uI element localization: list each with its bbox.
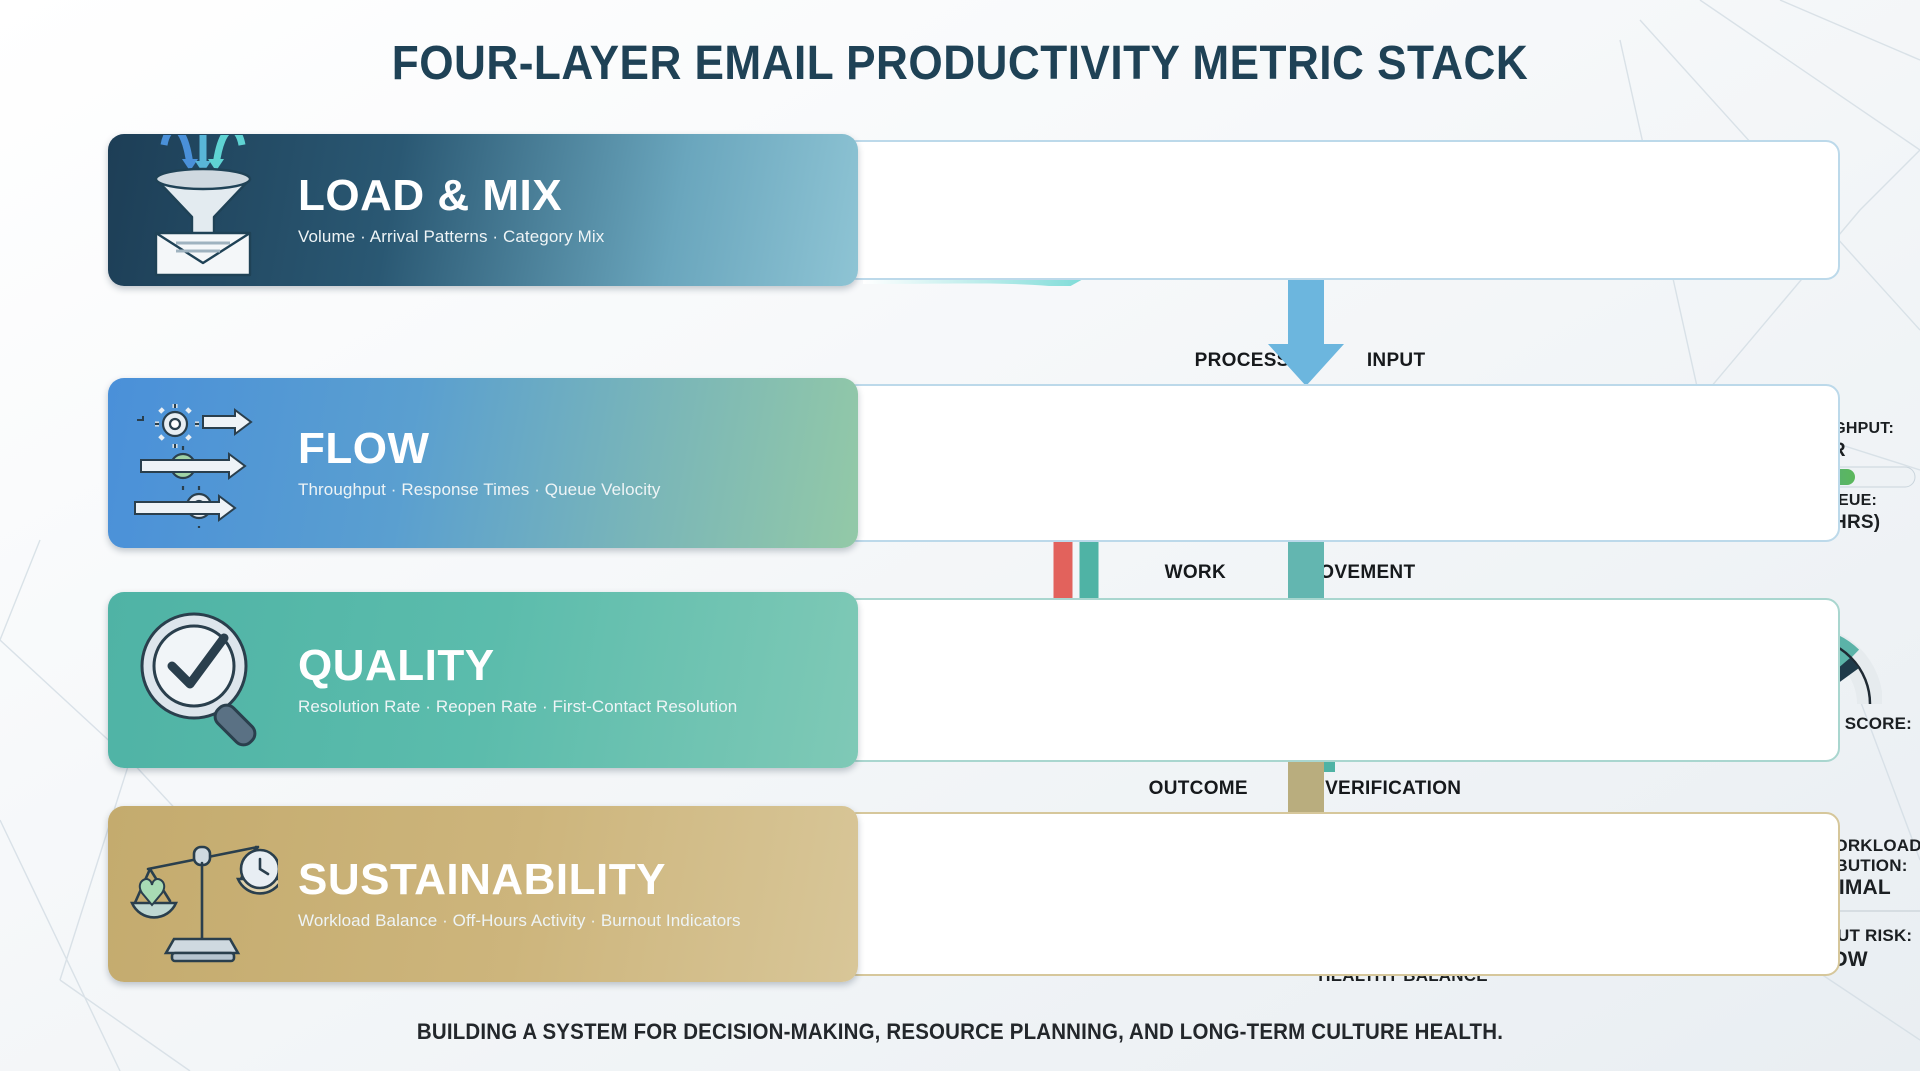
gears-arrows-icon — [108, 398, 298, 528]
page-footer: BUILDING A SYSTEM FOR DECISION-MAKING, R… — [67, 1019, 1853, 1045]
banner-load-mix[interactable]: LOAD & MIX Volume · Arrival Patterns · C… — [108, 134, 858, 286]
banner-quality[interactable]: QUALITY Resolution Rate · Reopen Rate · … — [108, 592, 858, 768]
layer-row-quality: QUALITY CHECK RESOLVED: 95% REOPEN: 5% F… — [108, 592, 1840, 768]
layer-subtitle-load-mix: Volume · Arrival Patterns · Category Mix — [298, 227, 846, 247]
connector-arrow-process-input — [1264, 280, 1348, 390]
banner-flow[interactable]: FLOW Throughput · Response Times · Queue… — [108, 378, 858, 548]
layer-title-quality: QUALITY — [298, 643, 846, 689]
panel-flow — [843, 384, 1840, 542]
layer-row-sustainability: WORK HOURS OFF-HOURS ACTIVITY HEALTHY BA… — [108, 806, 1840, 982]
connector-left-label-3: OUTCOME — [1149, 778, 1248, 800]
balance-scale-icon — [108, 819, 298, 969]
layer-title-sustainability: SUSTAINABILITY — [298, 857, 846, 903]
page-title: FOUR-LAYER EMAIL PRODUCTIVITY METRIC STA… — [77, 36, 1843, 91]
layer-title-load-mix: LOAD & MIX — [298, 173, 846, 219]
connector-right-label: INPUT — [1367, 350, 1426, 372]
banner-sustainability[interactable]: SUSTAINABILITY Workload Balance · Off-Ho… — [108, 806, 858, 982]
layer-row-load-mix: TOTAL VOLUME: HIGH CATEGORY BREAKDOWN: 4… — [108, 134, 1840, 286]
magnifier-check-icon — [108, 608, 298, 753]
layer-title-flow: FLOW — [298, 426, 846, 472]
panel-sustainability — [843, 812, 1840, 976]
layer-subtitle-sustainability: Workload Balance · Off-Hours Activity · … — [298, 911, 846, 931]
layer-subtitle-flow: Throughput · Response Times · Queue Velo… — [298, 480, 846, 500]
panel-quality — [843, 598, 1840, 762]
funnel-envelope-icon — [108, 135, 298, 285]
panel-load-mix — [843, 140, 1840, 280]
layer-row-flow: TRIAGE PROCESSING RESOLUTION — [108, 378, 1840, 548]
layer-subtitle-quality: Resolution Rate · Reopen Rate · First-Co… — [298, 697, 846, 717]
